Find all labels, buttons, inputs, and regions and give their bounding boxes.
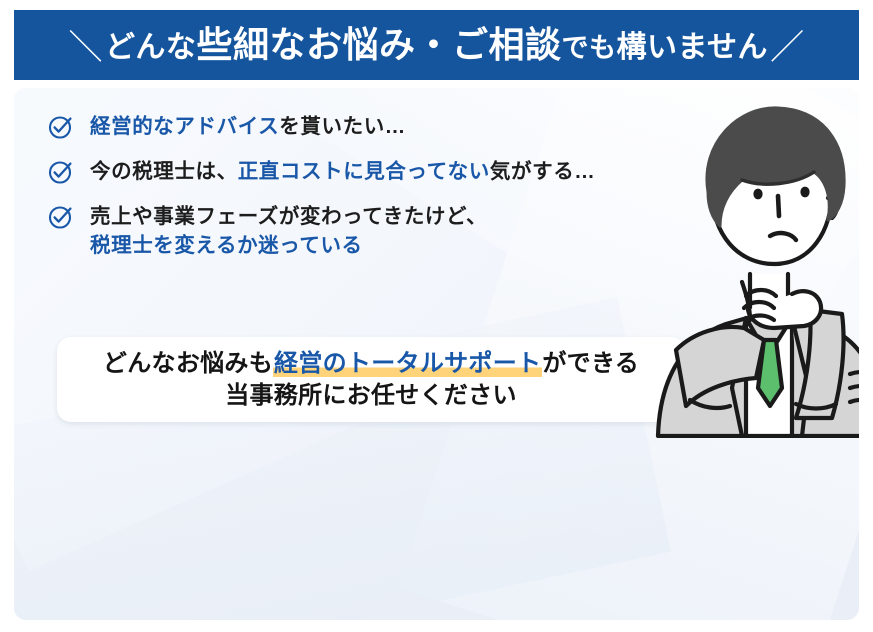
list-item: 今の税理士は、正直コストに見合ってない気がする…: [48, 157, 728, 186]
list-item: 経営的なアドバイスを貰いたい…: [48, 112, 728, 141]
callout-line-2: 当事務所にお任せください: [225, 380, 517, 412]
check-circle-icon: [48, 114, 74, 140]
list-item-plain-tail: 気がする…: [490, 160, 596, 183]
concerns-checklist: 経営的なアドバイスを貰いたい… 今の税理士は、正直コストに見合ってない気がする…: [48, 112, 728, 276]
list-item-plain-lead: 今の税理士は、: [90, 160, 238, 183]
callout-line-1: どんなお悩みも経営のトータルサポートができる: [103, 348, 639, 380]
list-item: 売上や事業フェーズが変わってきたけど、 税理士を変えるか迷っている: [48, 202, 728, 260]
header-banner: ＼ どんな 些細なお悩み・ご相談 でも 構いません ／: [14, 10, 859, 80]
check-circle-icon: [48, 204, 74, 230]
list-item-highlight: 経営的なアドバイス: [90, 115, 279, 138]
header-title: ＼ どんな 些細なお悩み・ご相談 でも 構いません ／: [66, 27, 806, 63]
list-item-label: 売上や事業フェーズが変わってきたけど、 税理士を変えるか迷っている: [90, 202, 487, 260]
header-strong-text: 些細なお悩み・ご相談: [196, 27, 561, 63]
slash-left-decoration: ＼: [66, 31, 105, 65]
check-circle-icon: [48, 159, 74, 185]
list-item-line2: 税理士を変えるか迷っている: [90, 231, 487, 260]
list-item-highlight: 正直コストに見合ってない: [238, 160, 490, 183]
list-item-plain: を貰いたい…: [279, 115, 406, 138]
slash-right-decoration: ／: [768, 31, 807, 65]
header-lead-text: どんな: [105, 33, 197, 63]
callout-lead: どんなお悩みも: [103, 350, 273, 377]
list-item-label: 今の税理士は、正直コストに見合ってない気がする…: [90, 157, 595, 186]
callout-tail: ができる: [542, 350, 639, 377]
callout-highlight: 経営のトータルサポート: [273, 350, 542, 377]
header-tail-text: でも: [561, 35, 616, 62]
list-item-line1: 売上や事業フェーズが変わってきたけど、: [90, 202, 487, 231]
list-item-label: 経営的なアドバイスを貰いたい…: [90, 112, 406, 141]
content-panel: 経営的なアドバイスを貰いたい… 今の税理士は、正直コストに見合ってない気がする…: [14, 88, 859, 620]
page-root: ＼ どんな 些細なお悩み・ご相談 でも 構いません ／ 経営的: [0, 0, 873, 632]
solution-callout: どんなお悩みも経営のトータルサポートができる 当事務所にお任せください: [57, 337, 685, 422]
header-tail2-text: 構いません: [616, 33, 768, 63]
